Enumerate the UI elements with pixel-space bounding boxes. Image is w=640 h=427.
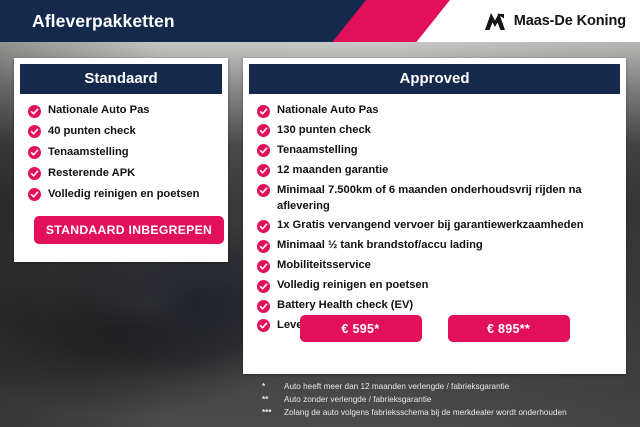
footnote-row: * Auto heeft meer dan 12 maanden verleng… <box>262 381 632 393</box>
footnote-row: *** Zolang de auto volgens fabrieksschem… <box>262 407 632 419</box>
footnotes: * Auto heeft meer dan 12 maanden verleng… <box>262 381 632 420</box>
feature-text: Battery Health check (EV) <box>277 298 413 314</box>
price-button-row: € 595* € 895** <box>243 315 626 342</box>
feature-text: Nationale Auto Pas <box>48 103 150 119</box>
feature-list-standaard: Nationale Auto Pas 40 punten check Tenaa… <box>14 94 228 203</box>
check-circle-icon <box>28 105 41 118</box>
footnote-text: Zolang de auto volgens fabrieksschema bi… <box>284 407 567 419</box>
list-item: Mobiliteitsservice <box>257 258 616 274</box>
list-item: Volledig reinigen en poetsen <box>257 278 616 294</box>
feature-list-approved: Nationale Auto Pas 130 punten check Tena… <box>243 94 626 334</box>
check-circle-icon <box>28 188 41 201</box>
feature-text: Minimaal 7.500km of 6 maanden onderhouds… <box>277 183 616 215</box>
list-item: 40 punten check <box>28 124 220 140</box>
page-title: Afleverpakketten <box>32 0 175 42</box>
check-circle-icon <box>28 167 41 180</box>
price-button-895[interactable]: € 895** <box>448 315 570 342</box>
list-item: Resterende APK <box>28 166 220 182</box>
check-circle-icon <box>257 300 270 313</box>
list-item: 12 maanden garantie <box>257 163 616 179</box>
list-item: Minimaal ½ tank brandstof/accu lading <box>257 238 616 254</box>
list-item: Nationale Auto Pas <box>28 103 220 119</box>
feature-text: 1x Gratis vervangend vervoer bij garanti… <box>277 218 584 234</box>
footnote-row: ** Auto zonder verlengde / fabrieksgaran… <box>262 394 632 406</box>
card-title-approved: Approved <box>249 64 620 94</box>
check-circle-icon <box>28 146 41 159</box>
check-circle-icon <box>257 280 270 293</box>
card-title-standaard: Standaard <box>20 64 222 94</box>
feature-text: Volledig reinigen en poetsen <box>48 187 199 203</box>
maas-de-koning-m-logo-icon <box>484 12 506 31</box>
feature-text: Nationale Auto Pas <box>277 103 379 119</box>
list-item: 130 punten check <box>257 123 616 139</box>
check-circle-icon <box>257 164 270 177</box>
footnote-marker: ** <box>262 394 284 406</box>
feature-text: Resterende APK <box>48 166 135 182</box>
feature-text: 40 punten check <box>48 124 136 140</box>
list-item: Volledig reinigen en poetsen <box>28 187 220 203</box>
afleverpakketten-page: Afleverpakketten Maas-De Koning Standaar… <box>0 0 640 427</box>
check-circle-icon <box>257 220 270 233</box>
footnote-text: Auto zonder verlengde / fabrieksgarantie <box>284 394 431 406</box>
footnote-marker: *** <box>262 407 284 419</box>
list-item: Tenaamstelling <box>257 143 616 159</box>
page-header: Afleverpakketten Maas-De Koning <box>0 0 640 42</box>
check-circle-icon <box>257 184 270 197</box>
feature-text: Tenaamstelling <box>277 143 358 159</box>
feature-text: Tenaamstelling <box>48 145 129 161</box>
check-circle-icon <box>257 240 270 253</box>
feature-text: Volledig reinigen en poetsen <box>277 278 428 294</box>
list-item: 1x Gratis vervangend vervoer bij garanti… <box>257 218 616 234</box>
check-circle-icon <box>257 260 270 273</box>
brand-lockup: Maas-De Koning <box>484 0 626 42</box>
list-item: Nationale Auto Pas <box>257 103 616 119</box>
check-circle-icon <box>28 125 41 138</box>
standaard-inbegrepen-button[interactable]: STANDAARD INBEGREPEN <box>34 216 224 244</box>
price-button-595[interactable]: € 595* <box>300 315 422 342</box>
feature-text: 130 punten check <box>277 123 371 139</box>
feature-text: Mobiliteitsservice <box>277 258 371 274</box>
check-circle-icon <box>257 144 270 157</box>
footnote-marker: * <box>262 381 284 393</box>
check-circle-icon <box>257 124 270 137</box>
check-circle-icon <box>257 105 270 118</box>
brand-name: Maas-De Koning <box>514 13 626 29</box>
list-item: Minimaal 7.500km of 6 maanden onderhouds… <box>257 183 616 215</box>
list-item: Battery Health check (EV) <box>257 298 616 314</box>
package-card-standaard: Standaard Nationale Auto Pas 40 punten c… <box>14 58 228 262</box>
feature-text: Minimaal ½ tank brandstof/accu lading <box>277 238 483 254</box>
package-card-approved: Approved Nationale Auto Pas 130 punten c… <box>243 58 626 374</box>
feature-text: 12 maanden garantie <box>277 163 388 179</box>
list-item: Tenaamstelling <box>28 145 220 161</box>
footnote-text: Auto heeft meer dan 12 maanden verlengde… <box>284 381 509 393</box>
